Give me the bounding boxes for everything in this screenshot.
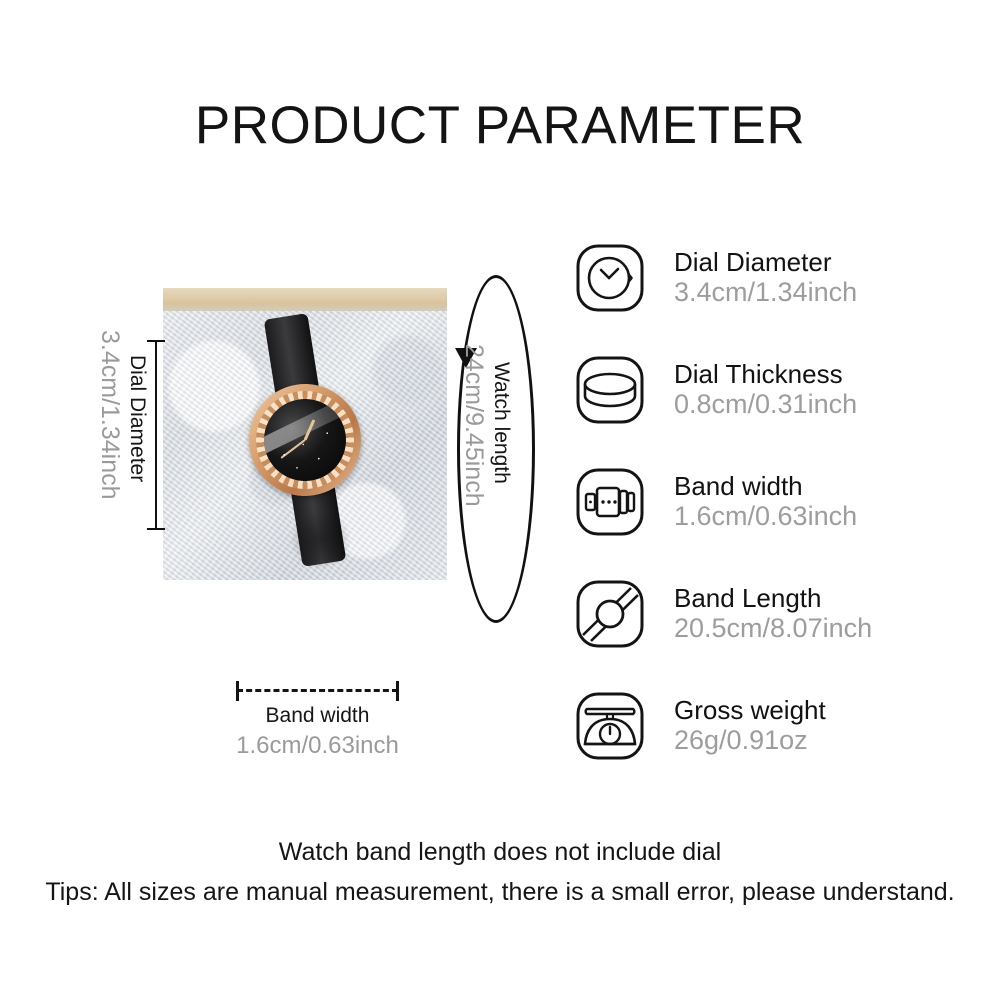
dial-thickness-icon: [572, 352, 648, 428]
footer-tips: Tips: All sizes are manual measurement, …: [0, 872, 1000, 912]
band-width-callout: Band width 1.6cm/0.63inch: [180, 702, 455, 763]
watch-strap-diagonal-icon: [572, 576, 648, 652]
watch-shadow: [288, 508, 353, 571]
photo-sand-strip: [163, 288, 447, 314]
dial-diameter-diagram-label: Dial Diameter: [127, 355, 148, 482]
band-buckle-icon: [572, 464, 648, 540]
spec-value-dial-thickness: 0.8cm/0.31inch: [674, 389, 857, 421]
kitchen-scale-icon: [572, 688, 648, 764]
band-width-dimension-line: [237, 689, 398, 692]
spec-row-dial-diameter: Dial Diameter 3.4cm/1.34inch: [572, 222, 972, 334]
band-width-diagram-label: Band width: [180, 702, 455, 730]
product-photo: [163, 288, 447, 580]
watch-dial-icon: [572, 240, 648, 316]
spec-text-gross-weight: Gross weight 26g/0.91oz: [648, 695, 826, 758]
spec-label-band-width: Band width: [674, 471, 857, 502]
watch-hour-hand: [304, 419, 316, 440]
watch-dial: [258, 393, 352, 487]
footer: Watch band length does not include dial …: [0, 832, 1000, 912]
spec-value-dial-diameter: 3.4cm/1.34inch: [674, 277, 857, 309]
page-title: PRODUCT PARAMETER: [0, 95, 1000, 156]
spec-label-gross-weight: Gross weight: [674, 695, 826, 726]
footer-note: Watch band length does not include dial: [0, 832, 1000, 872]
spec-value-gross-weight: 26g/0.91oz: [674, 725, 826, 757]
spec-label-band-length: Band Length: [674, 583, 872, 614]
watch-length-diagram-label: Watch length: [491, 362, 512, 484]
spec-value-band-width: 1.6cm/0.63inch: [674, 501, 857, 533]
dial-diameter-dimension-bar: [155, 340, 157, 530]
spec-text-dial-diameter: Dial Diameter 3.4cm/1.34inch: [648, 247, 857, 310]
dial-diameter-diagram-value: 3.4cm/1.34inch: [97, 330, 122, 500]
watch-case: [241, 376, 369, 504]
band-width-diagram-value: 1.6cm/0.63inch: [180, 730, 455, 762]
spec-row-dial-thickness: Dial Thickness 0.8cm/0.31inch: [572, 334, 972, 446]
spec-text-band-length: Band Length 20.5cm/8.07inch: [648, 583, 872, 646]
spec-list: Dial Diameter 3.4cm/1.34inch Dial Thickn…: [572, 222, 972, 782]
spec-row-gross-weight: Gross weight 26g/0.91oz: [572, 670, 972, 782]
spec-row-band-width: Band width 1.6cm/0.63inch: [572, 446, 972, 558]
spec-label-dial-diameter: Dial Diameter: [674, 247, 857, 278]
watch-length-diagram-value: 24cm/9.45inch: [461, 344, 486, 507]
watch-minute-hand: [280, 439, 305, 459]
spec-text-band-width: Band width 1.6cm/0.63inch: [648, 471, 857, 534]
spec-row-band-length: Band Length 20.5cm/8.07inch: [572, 558, 972, 670]
spec-value-band-length: 20.5cm/8.07inch: [674, 613, 872, 645]
spec-text-dial-thickness: Dial Thickness 0.8cm/0.31inch: [648, 359, 857, 422]
spec-label-dial-thickness: Dial Thickness: [674, 359, 857, 390]
